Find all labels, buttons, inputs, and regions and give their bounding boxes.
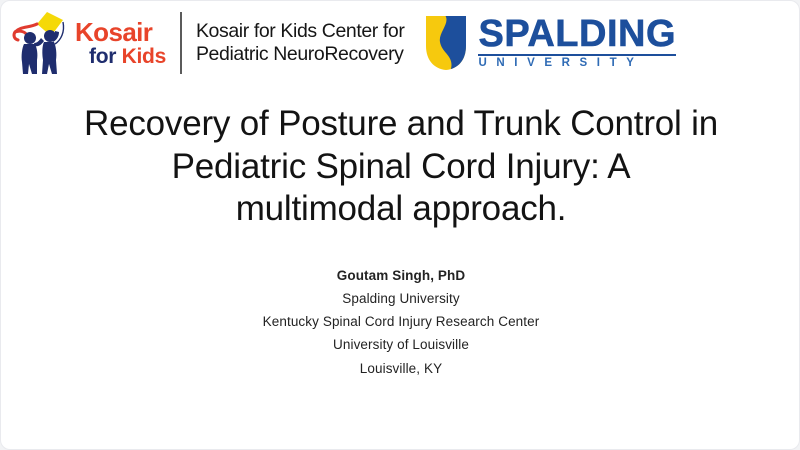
kosair-wordmark-kids: Kids [122, 45, 166, 68]
spalding-subtitle: UNIVERSITY [478, 58, 676, 70]
slide-title-line-2: Pediatric Spinal Cord Injury: A [29, 146, 773, 189]
slide-title-line-3: multimodal approach. [29, 188, 773, 231]
author-block: Goutam Singh, PhD Spalding University Ke… [1, 266, 800, 380]
kosair-wordmark-line2: for Kids [75, 46, 166, 67]
author-affiliation-1: Spalding University [1, 287, 800, 310]
author-affiliation-3: University of Louisville [1, 333, 800, 356]
author-affiliation-2: Kentucky Spinal Cord Injury Research Cen… [1, 310, 800, 333]
author-name: Goutam Singh, PhD [1, 266, 800, 287]
spalding-name: SPALDING [478, 16, 676, 52]
spalding-shield-s-icon [422, 14, 470, 72]
center-name-line-2: Pediatric NeuroRecovery [196, 43, 405, 66]
kosair-wordmark: Kosair for Kids [75, 19, 166, 67]
kosair-kite-children-icon [11, 10, 73, 76]
center-name-line-1: Kosair for Kids Center for [196, 20, 405, 43]
kosair-for-kids-logo: Kosair for Kids [11, 7, 166, 79]
header-divider [180, 12, 182, 74]
author-affiliation-4: Louisville, KY [1, 357, 800, 380]
slide-title: Recovery of Posture and Trunk Control in… [29, 103, 773, 231]
slide-header: Kosair for Kids Kosair for Kids Center f… [1, 1, 800, 85]
spalding-university-logo: SPALDING UNIVERSITY [422, 14, 676, 72]
slide-title-line-1: Recovery of Posture and Trunk Control in [29, 103, 773, 146]
kosair-wordmark-for: for [89, 45, 116, 68]
center-name: Kosair for Kids Center for Pediatric Neu… [196, 20, 405, 65]
spalding-wordmark: SPALDING UNIVERSITY [478, 16, 676, 70]
presentation-slide: Kosair for Kids Kosair for Kids Center f… [0, 0, 800, 450]
kosair-wordmark-line1: Kosair [75, 19, 166, 45]
